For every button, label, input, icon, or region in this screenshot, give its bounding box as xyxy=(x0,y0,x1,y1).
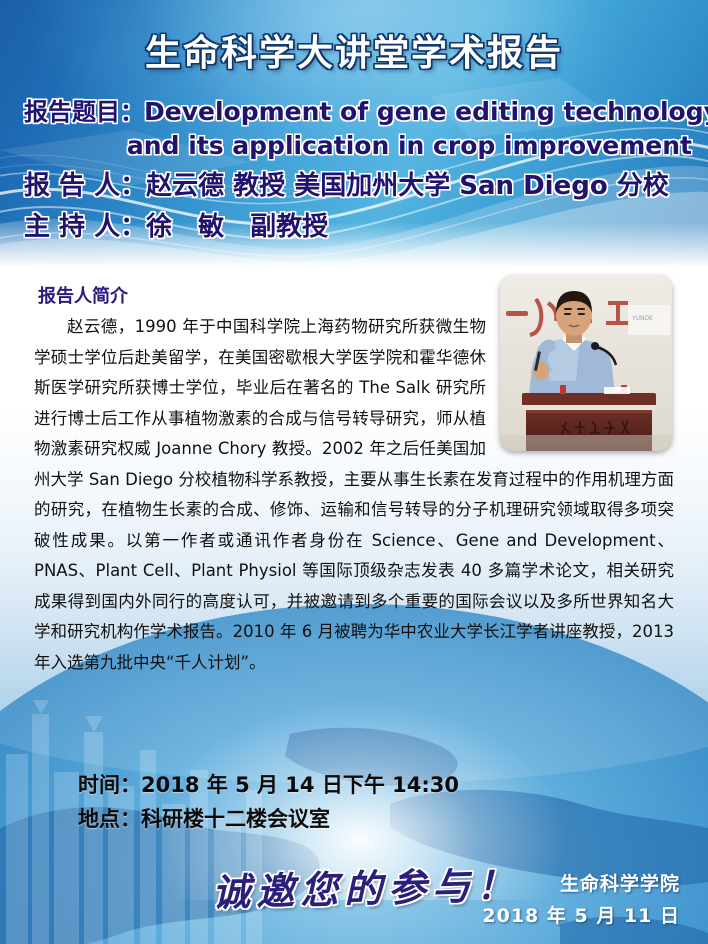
signature-date: 2018 年 5 月 11 日 xyxy=(482,900,680,932)
header-banner: 生命科学大讲堂学术报告 报告题目： Development of gene ed… xyxy=(0,0,708,268)
host-row: 主 持 人：徐 敏 副教授 xyxy=(24,206,692,243)
topic-value-line1: Development of gene editing technology xyxy=(144,97,708,126)
signature-org: 生命科学学院 xyxy=(482,868,680,900)
topic-row: 报告题目： Development of gene editing techno… xyxy=(24,92,692,127)
bio-heading: 报告人简介 xyxy=(38,282,128,308)
event-meta: 时间：2018 年 5 月 14 日下午 14:30 地点：科研楼十二楼会议室 xyxy=(78,768,459,836)
signature-block: 生命科学学院 2018 年 5 月 11 日 xyxy=(482,868,680,932)
page-title: 生命科学大讲堂学术报告 xyxy=(0,24,708,76)
poster-root: 生命科学大讲堂学术报告 报告题目： Development of gene ed… xyxy=(0,0,708,944)
speaker-row: 报 告 人：赵云德 教授 美国加州大学 San Diego 分校 xyxy=(24,165,692,202)
bio-paragraph-container: 赵云德，1990 年于中国科学院上海药物研究所获微生物学硕士学位后赴美留学，在美… xyxy=(34,312,674,678)
event-place: 地点：科研楼十二楼会议室 xyxy=(78,802,459,836)
event-time: 时间：2018 年 5 月 14 日下午 14:30 xyxy=(78,768,459,802)
topic-value-line2: and its application in crop improvement xyxy=(24,131,692,160)
photo-text-wrap-spacer xyxy=(486,312,674,462)
invitation-text: 诚邀您的参与！ xyxy=(211,854,520,917)
header-info-block: 报告题目： Development of gene editing techno… xyxy=(24,92,692,243)
topic-label: 报告题目： xyxy=(24,92,144,127)
